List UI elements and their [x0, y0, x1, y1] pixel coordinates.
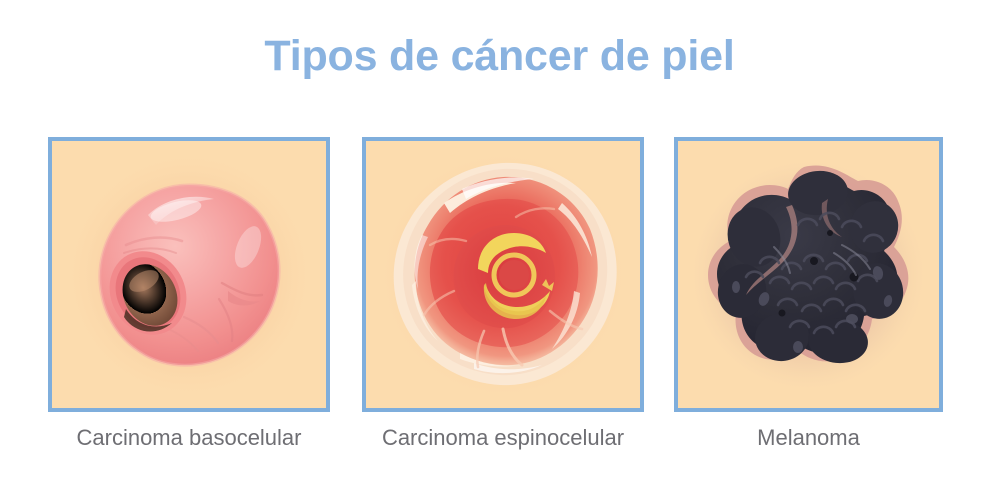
skin-frame-basocelular	[48, 137, 330, 412]
skin-cancer-types-gallery: Carcinoma basocelular	[0, 137, 999, 417]
lesion-illustration-basocelular	[52, 141, 326, 408]
squamous-cell-carcinoma-svg	[366, 141, 640, 408]
lesion-illustration-melanoma	[678, 141, 939, 408]
lesion-illustration-espinocelular	[366, 141, 640, 408]
caption-melanoma: Melanoma	[674, 425, 943, 451]
skin-frame-espinocelular	[362, 137, 644, 412]
panel-carcinoma-espinocelular: Carcinoma espinocelular	[362, 137, 644, 412]
basal-cell-carcinoma-svg	[52, 141, 326, 408]
panel-carcinoma-basocelular: Carcinoma basocelular	[48, 137, 330, 412]
melanoma-svg	[678, 141, 939, 408]
caption-carcinoma-basocelular: Carcinoma basocelular	[39, 425, 339, 451]
panel-melanoma: Melanoma	[674, 137, 943, 412]
page-title: Tipos de cáncer de piel	[0, 32, 999, 81]
caption-carcinoma-espinocelular: Carcinoma espinocelular	[356, 425, 650, 451]
skin-frame-melanoma	[674, 137, 943, 412]
